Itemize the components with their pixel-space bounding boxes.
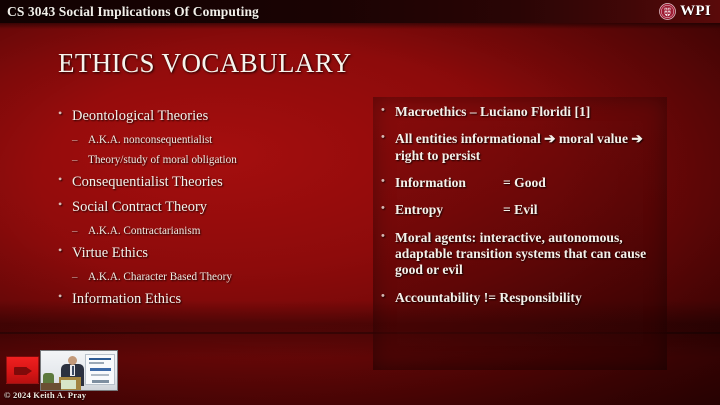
right-bullet-list: Macroethics – Luciano Floridi [1] All en… xyxy=(379,104,667,317)
bullet-item: Accountability != Responsibility xyxy=(379,290,667,306)
bullet-item-definition: Entropy= Evil xyxy=(379,202,667,218)
wpi-seal-icon xyxy=(659,3,676,20)
webcam-podium-paper xyxy=(61,380,76,389)
definition-term: Entropy xyxy=(395,202,503,218)
webcam-table xyxy=(41,383,61,390)
definition-value: = Good xyxy=(503,175,546,190)
webcam-presenter-head xyxy=(68,356,77,365)
copyright-notice: © 2024 Keith A. Pray xyxy=(4,390,86,400)
sub-bullet-item: A.K.A. nonconsequentialist xyxy=(56,134,366,147)
presentation-slide: CS 3043 Social Implications Of Computing… xyxy=(0,0,720,405)
bullet-item-definition: Information= Good xyxy=(379,175,667,191)
bullet-item: All entities informational ➔ moral value… xyxy=(379,131,667,164)
course-title: CS 3043 Social Implications Of Computing xyxy=(0,4,259,20)
definition-value: = Evil xyxy=(503,202,538,217)
slide-title: ETHICS VOCABULARY xyxy=(58,48,352,79)
bullet-item: Deontological Theories xyxy=(56,108,366,125)
video-camera-icon[interactable] xyxy=(6,356,39,384)
webcam-projection-screen xyxy=(85,354,115,385)
slide-header-bar: CS 3043 Social Implications Of Computing… xyxy=(0,0,720,23)
bullet-item: Consequentialist Theories xyxy=(56,174,366,191)
camera-lens-shape xyxy=(26,367,32,375)
sub-bullet-item: A.K.A. Contractarianism xyxy=(56,225,366,238)
left-bullet-list: Deontological Theories A.K.A. nonconsequ… xyxy=(56,108,366,317)
bullet-item: Virtue Ethics xyxy=(56,245,366,262)
wpi-branding: WPI xyxy=(659,3,720,20)
background-band-top xyxy=(0,22,720,29)
presenter-webcam-thumbnail[interactable] xyxy=(40,350,118,391)
definition-term: Information xyxy=(395,175,503,191)
bullet-item: Macroethics – Luciano Floridi [1] xyxy=(379,104,667,120)
webcam-presenter-tie xyxy=(72,366,75,375)
bullet-item: Social Contract Theory xyxy=(56,199,366,216)
sub-bullet-item: A.K.A. Character Based Theory xyxy=(56,271,366,284)
bullet-item: Moral agents: interactive, autonomous, a… xyxy=(379,230,667,279)
sub-bullet-item: Theory/study of moral obligation xyxy=(56,154,366,167)
wpi-wordmark: WPI xyxy=(680,3,711,20)
bullet-item: Information Ethics xyxy=(56,291,366,308)
